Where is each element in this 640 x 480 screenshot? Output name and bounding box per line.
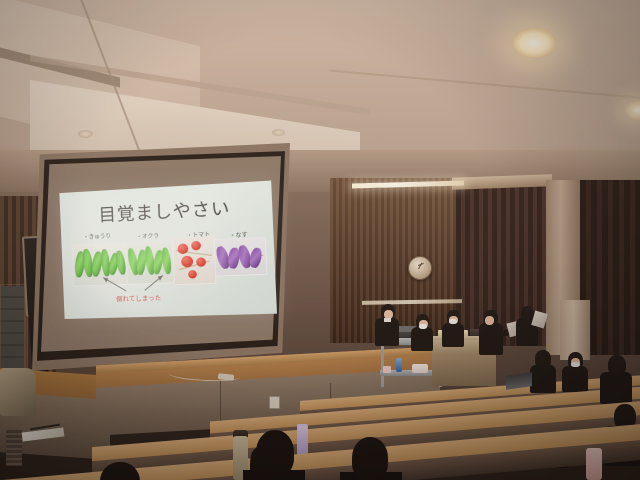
presenter-3-face-mask (449, 319, 457, 324)
presenter-1-body (375, 318, 399, 346)
tomato-photo (172, 236, 217, 285)
student-face-mask (571, 362, 580, 367)
ceiling-vent (300, 22, 310, 28)
bottle-on-cart (396, 358, 402, 372)
bag-on-stage (0, 368, 36, 416)
presenter-3-body (442, 323, 464, 347)
presenter-1-collar (384, 318, 391, 322)
okra-photo (125, 240, 175, 285)
slide-label-okra: ・オクラ (136, 231, 159, 240)
ceiling-downlight-icon (272, 129, 285, 136)
presenter-2-face-mask (419, 324, 427, 329)
student-head (535, 350, 551, 369)
presenter-2-body (411, 327, 433, 351)
left-notice-board-frame (0, 284, 28, 374)
stage-panel-seam (220, 380, 221, 426)
pouch-on-desk (586, 448, 602, 480)
foreground-student-head (256, 430, 294, 476)
wall-clock-icon (408, 256, 432, 280)
av-cart-leg (381, 341, 384, 387)
presenter-4-face (485, 316, 494, 325)
slide-annotation-text: 倒れてしまった (116, 293, 162, 304)
item-on-cart (383, 366, 391, 373)
student-body (600, 372, 632, 404)
slide-label-cucumber: ・きゅうり (83, 232, 111, 241)
slide-title: 目覚ましやさい (60, 191, 273, 228)
ceiling-downlight-icon (512, 28, 556, 58)
student-body (530, 365, 556, 393)
light-pillar-lower (560, 300, 590, 360)
foreground-student-head (352, 437, 388, 480)
cucumber-photo (71, 242, 127, 287)
student-head (608, 355, 626, 376)
presenter-4-body (479, 323, 503, 355)
projected-slide: 目覚ましやさい ・きゅうり ・オクラ ・トマト ・なす (59, 181, 277, 319)
ceiling-downlight-icon (78, 130, 93, 138)
lecture-hall-photo: 目覚ましやさい ・きゅうり ・オクラ ・トマト ・なす (0, 0, 640, 480)
floor-vent (6, 430, 22, 466)
tissue-box (412, 364, 428, 373)
wall-outlet (269, 396, 280, 409)
eggplant-photo (213, 237, 267, 277)
